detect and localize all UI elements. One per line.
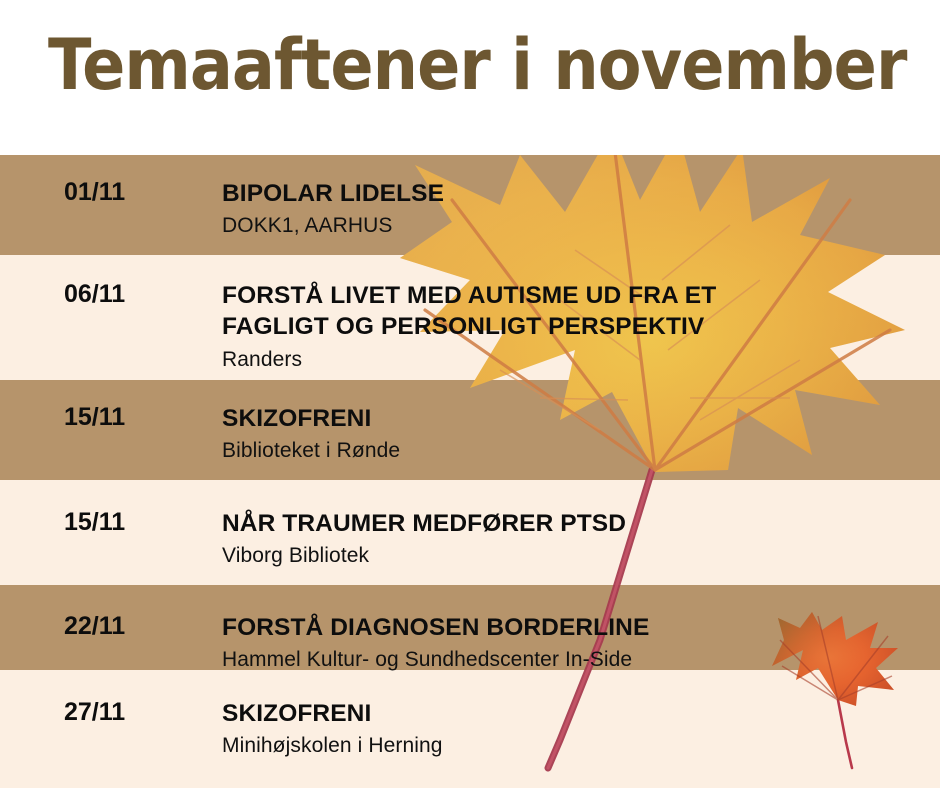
event-title: FORSTÅ DIAGNOSEN BORDERLINE xyxy=(222,612,930,643)
event-details: SKIZOFRENI Minihøjskolen i Herning xyxy=(222,698,930,760)
event-venue: Viborg Bibliotek xyxy=(222,542,930,569)
poster-header: Temaaftener i november xyxy=(0,0,940,155)
event-details: BIPOLAR LIDELSE DOKK1, AARHUS xyxy=(222,178,930,240)
event-date: 22/11 xyxy=(64,612,125,641)
event-details: NÅR TRAUMER MEDFØRER PTSD Viborg Bibliot… xyxy=(222,508,930,570)
event-date: 27/11 xyxy=(64,698,125,727)
poster-canvas: Temaaftener i november 01/11 BIPOLAR LID… xyxy=(0,0,940,788)
event-venue: Biblioteket i Rønde xyxy=(222,437,930,464)
event-venue: Randers xyxy=(222,346,930,373)
event-details: SKIZOFRENI Biblioteket i Rønde xyxy=(222,403,930,465)
event-title: NÅR TRAUMER MEDFØRER PTSD xyxy=(222,508,930,539)
event-title: SKIZOFRENI xyxy=(222,698,930,729)
event-venue: Hammel Kultur- og Sundhedscenter In-Side xyxy=(222,646,930,673)
event-date: 15/11 xyxy=(64,403,125,432)
event-title: SKIZOFRENI xyxy=(222,403,930,434)
page-title: Temaaftener i november xyxy=(48,26,906,104)
event-title: FORSTÅ LIVET MED AUTISME UD FRA ET FAGLI… xyxy=(222,280,930,343)
event-date: 15/11 xyxy=(64,508,125,537)
event-date: 06/11 xyxy=(64,280,125,309)
event-details: FORSTÅ DIAGNOSEN BORDERLINE Hammel Kultu… xyxy=(222,612,930,674)
event-venue: Minihøjskolen i Herning xyxy=(222,732,930,759)
event-title: BIPOLAR LIDELSE xyxy=(222,178,930,209)
event-date: 01/11 xyxy=(64,178,125,207)
event-venue: DOKK1, AARHUS xyxy=(222,212,930,239)
event-details: FORSTÅ LIVET MED AUTISME UD FRA ET FAGLI… xyxy=(222,280,930,373)
